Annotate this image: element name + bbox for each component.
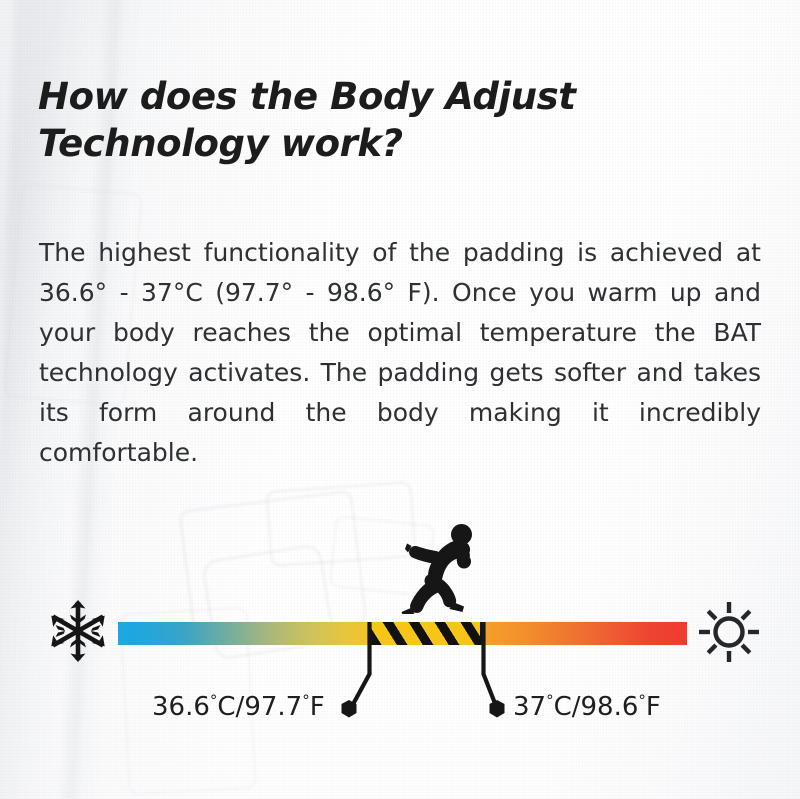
temperature-left-fahrenheit-value: 97.7 <box>244 692 302 722</box>
degree-symbol: ° <box>638 691 646 709</box>
degree-symbol: ° <box>546 691 554 709</box>
temperature-label-right: 37°C/98.6°F <box>513 692 661 722</box>
temperature-right-celsius-value: 37 <box>513 692 546 722</box>
temperature-left-celsius-value: 36.6 <box>152 692 210 722</box>
degree-symbol: ° <box>210 691 218 709</box>
callout-leader-lines <box>0 600 800 740</box>
temperature-label-left: 36.6°C/97.7°F <box>152 692 325 722</box>
degree-symbol: ° <box>302 691 310 709</box>
page-title: How does the Body Adjust Technology work… <box>38 73 738 167</box>
callout-dot-right <box>490 700 505 718</box>
infographic-poster: How does the Body Adjust Technology work… <box>0 0 800 799</box>
temperature-right-fahrenheit-value: 98.6 <box>581 692 639 722</box>
body-paragraph: The highest functionality of the padding… <box>39 233 761 473</box>
